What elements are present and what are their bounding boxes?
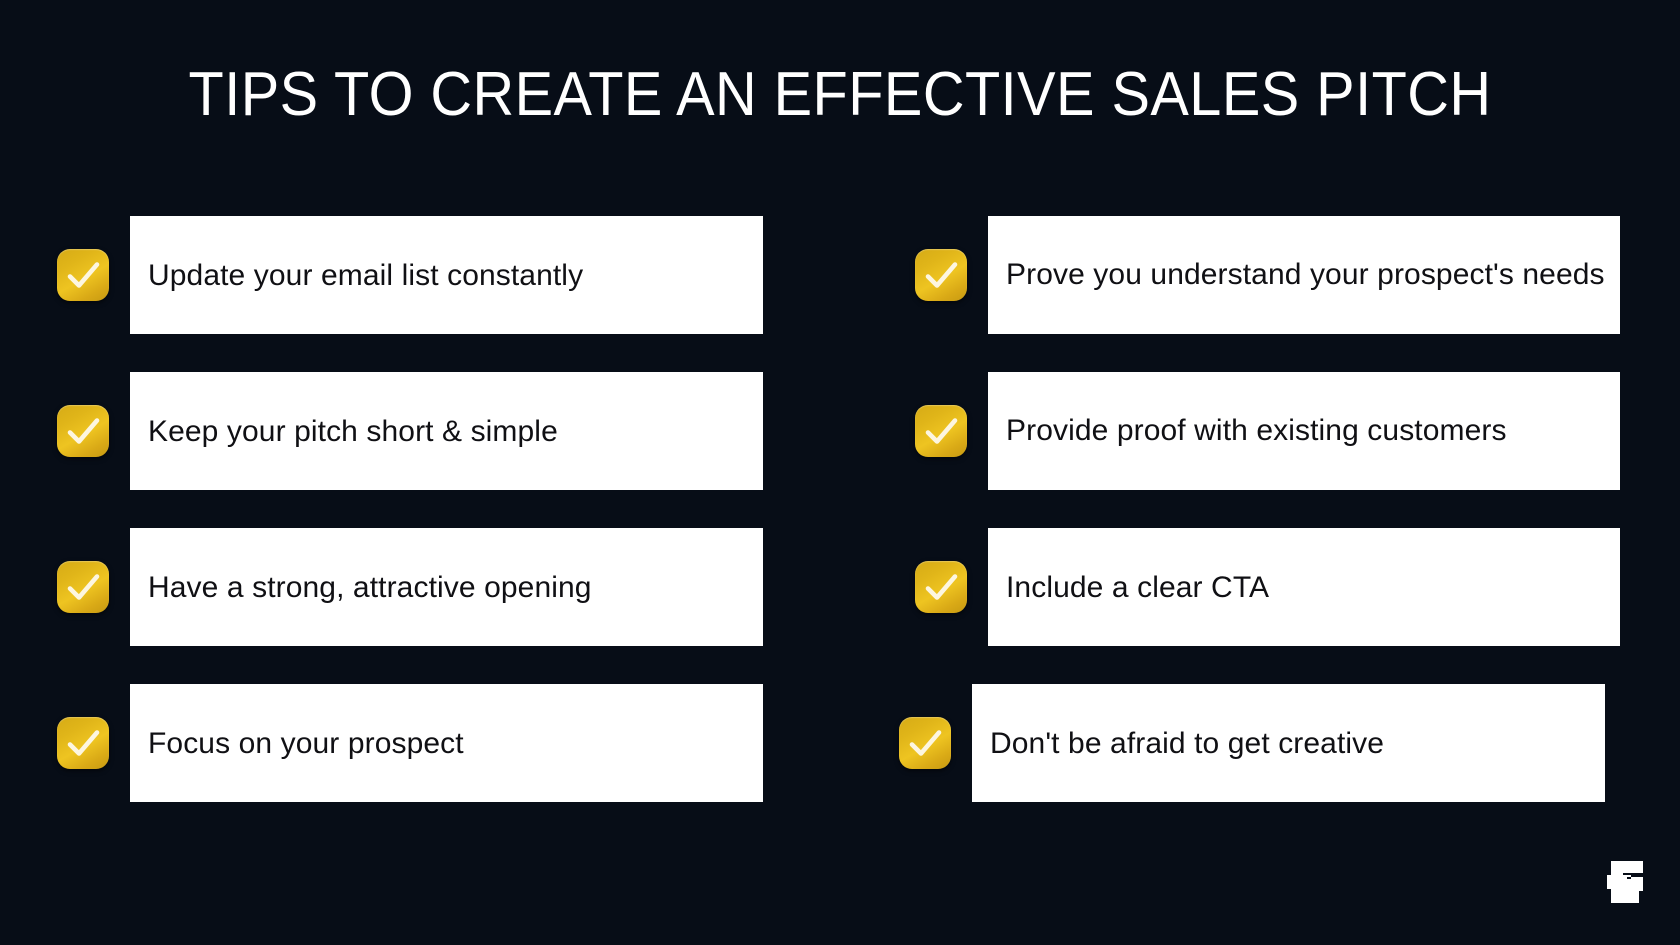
tip-text: Prove you understand your prospect's nee… [1006, 247, 1605, 303]
tip-text: Include a clear CTA [1006, 561, 1269, 614]
tip-text: Don't be afraid to get creative [990, 717, 1384, 770]
check-icon[interactable] [57, 249, 109, 301]
tip-card[interactable]: Keep your pitch short & simple [130, 372, 763, 490]
tip-card[interactable]: Provide proof with existing customers [988, 372, 1620, 490]
check-icon[interactable] [57, 561, 109, 613]
tip-text: Have a strong, attractive opening [148, 561, 592, 614]
tip-text: Focus on your prospect [148, 717, 464, 770]
slide-canvas: TIPS TO CREATE AN EFFECTIVE SALES PITCH … [0, 0, 1680, 945]
tip-card[interactable]: Include a clear CTA [988, 528, 1620, 646]
tip-card[interactable]: Have a strong, attractive opening [130, 528, 763, 646]
check-icon[interactable] [915, 561, 967, 613]
tip-text: Update your email list constantly [148, 249, 583, 302]
tip-text: Keep your pitch short & simple [148, 405, 558, 458]
tips-grid: Update your email list constantly Keep y… [0, 0, 1680, 945]
tip-card[interactable]: Don't be afraid to get creative [972, 684, 1605, 802]
tip-row[interactable]: Keep your pitch short & simple [130, 372, 763, 490]
tip-row[interactable]: Have a strong, attractive opening [130, 528, 763, 646]
check-icon[interactable] [915, 249, 967, 301]
check-icon[interactable] [57, 405, 109, 457]
tip-row[interactable]: Update your email list constantly [130, 216, 763, 334]
tip-card[interactable]: Focus on your prospect [130, 684, 763, 802]
tip-row[interactable]: Provide proof with existing customers [988, 372, 1620, 490]
tip-row[interactable]: Prove you understand your prospect's nee… [988, 216, 1620, 334]
s-logo [1602, 857, 1648, 907]
check-icon[interactable] [57, 717, 109, 769]
tip-row[interactable]: Focus on your prospect [130, 684, 763, 802]
check-icon[interactable] [915, 405, 967, 457]
tip-row[interactable]: Include a clear CTA [988, 528, 1620, 646]
tip-card[interactable]: Prove you understand your prospect's nee… [988, 216, 1620, 334]
tip-row[interactable]: Don't be afraid to get creative [972, 684, 1605, 802]
tip-card[interactable]: Update your email list constantly [130, 216, 763, 334]
check-icon[interactable] [899, 717, 951, 769]
tip-text: Provide proof with existing customers [1006, 403, 1507, 459]
